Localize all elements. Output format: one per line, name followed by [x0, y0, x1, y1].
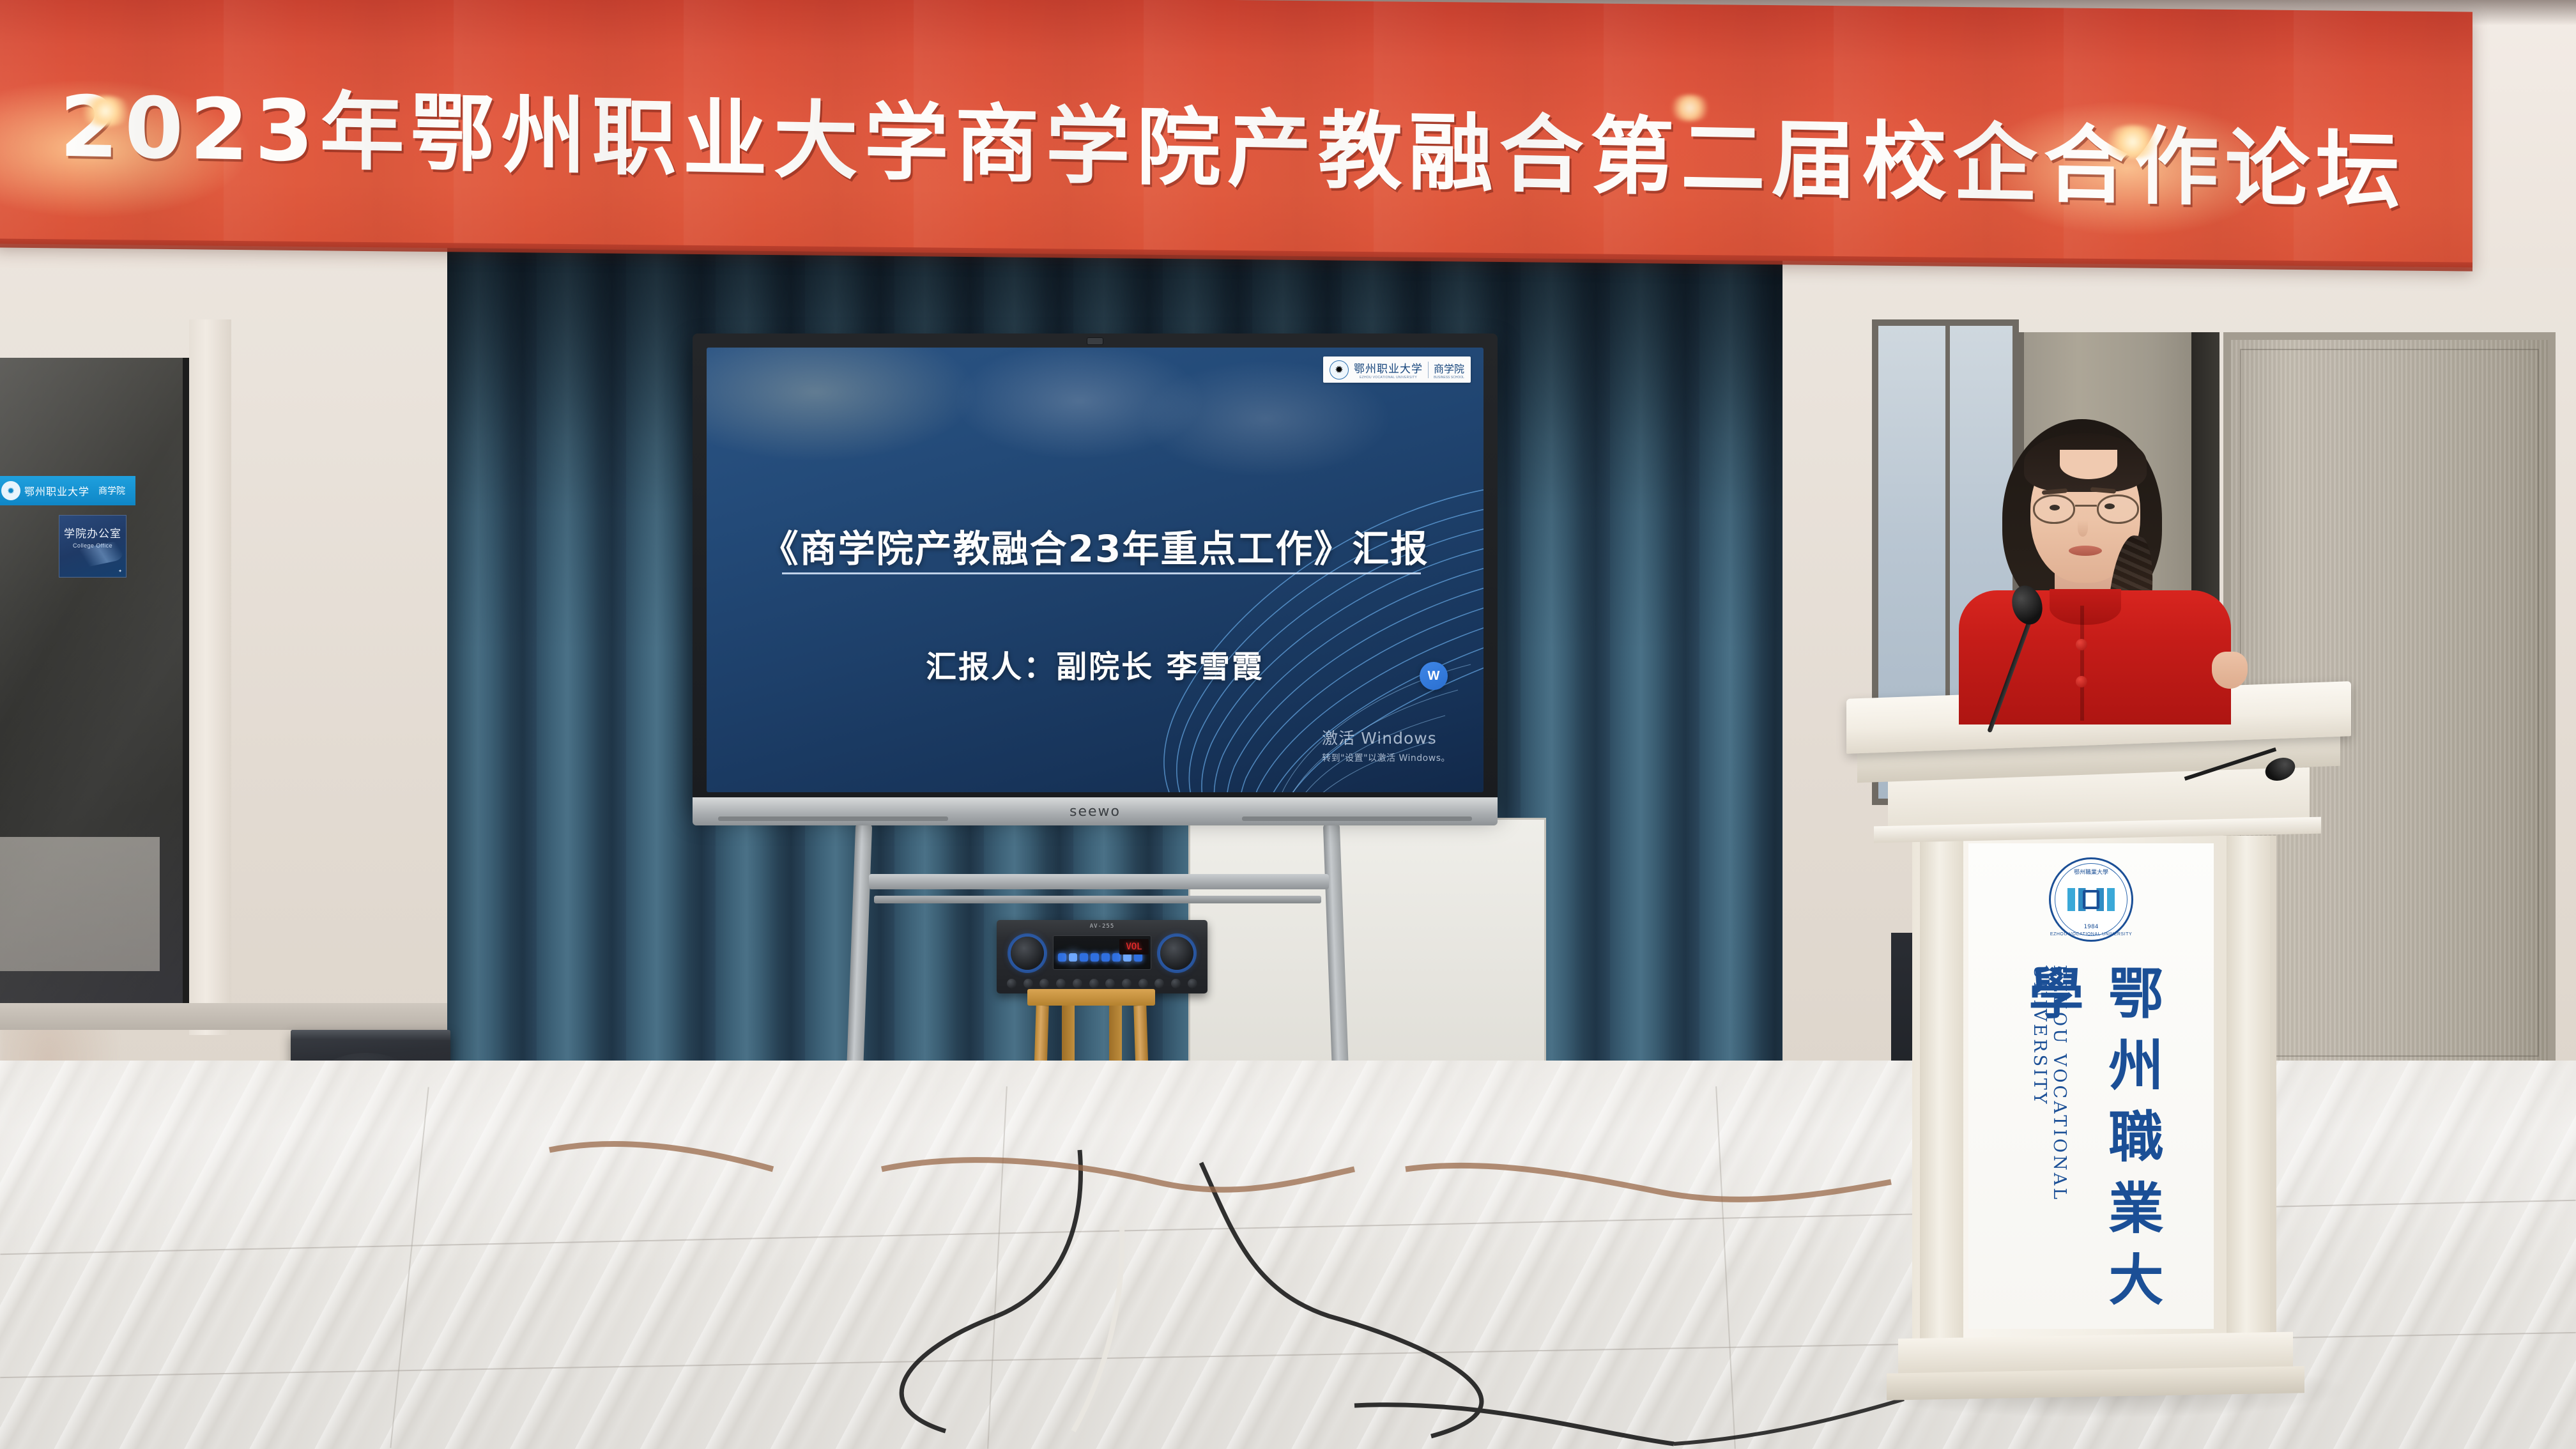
watermark-line-2: 转到"设置"以激活 Windows。 — [1322, 751, 1450, 764]
baseboard — [0, 1003, 498, 1030]
amplifier-readout: VOL — [1119, 939, 1149, 954]
emblem-arc-bottom-text: EZHOU VOCATIONAL UNIVERSITY — [2050, 932, 2132, 937]
podium-column-right — [2227, 836, 2270, 1340]
amplifier-model-label: AV-255 — [997, 923, 1207, 930]
emblem-inner-ring: 鄂州職業大學 1984 EZHOU VOCATIONAL UNIVERSITY — [2055, 863, 2127, 936]
slide-presenter: 汇报人：副院长 李雪霞 — [707, 641, 1483, 686]
windows-activation-watermark: 激活 Windows 转到"设置"以激活 Windows。 — [1322, 726, 1450, 764]
amplifier-control-row[interactable] — [1007, 979, 1197, 988]
office-door-sign: 学院办公室 College Office ✦ — [59, 515, 126, 578]
display-stand-crossbar — [869, 874, 1329, 889]
logo-divider — [1428, 362, 1429, 378]
nose — [2078, 520, 2088, 537]
university-crest-icon: ✹ — [1330, 360, 1349, 379]
slide-logo-university-en: EZHOU VOCATIONAL UNIVERSITY — [1354, 376, 1423, 379]
glasses-bridge — [2075, 505, 2097, 507]
panel-vent — [718, 816, 948, 821]
hand — [2212, 652, 2248, 689]
slide-logo-university-cn: 鄂州职业大学 — [1354, 363, 1423, 376]
podium-front-plate: 鄂州職業大學 1984 EZHOU VOCATIONAL UNIVERSITY … — [1968, 843, 2214, 1329]
slide-title: 《商学院产教融合23年重点工作》汇报 — [707, 519, 1483, 572]
slide-title-underline — [782, 572, 1421, 574]
slide-logo-college-en: BUSINESS SCHOOL — [1434, 376, 1464, 379]
event-banner: 2023年鄂州职业大学商学院产教融合第二届校企合作论坛 — [0, 0, 2472, 268]
stool-seat — [1027, 989, 1155, 1006]
collar — [2050, 589, 2121, 625]
amplifier-volume-knob-right[interactable] — [1160, 937, 1193, 970]
hair-fringe — [2024, 433, 2147, 492]
sign-emblem-icon: ✦ — [118, 569, 122, 574]
presentation-app-badge-icon[interactable]: W — [1420, 662, 1448, 690]
strip-university-label: 鄂州职业大学 — [24, 483, 89, 498]
shirt-button — [2076, 676, 2087, 687]
speaker-top — [291, 1030, 450, 1040]
speaking-podium: 鄂州職業大學 1984 EZHOU VOCATIONAL UNIVERSITY … — [1907, 690, 2290, 1399]
slide-logo-college-cn: 商学院 — [1434, 363, 1464, 375]
strip-college-label: 商学院 — [98, 484, 125, 497]
event-banner-text: 2023年鄂州职业大学商学院产教融合第二届校企合作论坛 — [0, 0, 2472, 279]
conference-photo-scene: 学院办公室 College Office ✦ ✹ 鄂州职业大学 商学院 2023… — [0, 0, 2576, 1449]
watermark-line-1: 激活 Windows — [1322, 726, 1450, 749]
office-sign-cn: 学院办公室 — [64, 525, 121, 540]
display-stand-crossbar-lower — [874, 896, 1321, 903]
mouth — [2069, 546, 2102, 556]
interactive-display-panel[interactable]: ✹ 鄂州职业大学 EZHOU VOCATIONAL UNIVERSITY 商学院… — [693, 333, 1498, 806]
reception-counter — [0, 837, 160, 971]
panel-vent — [1242, 816, 1472, 821]
podium-column-left — [1920, 836, 1963, 1340]
audio-amplifier[interactable]: AV-255 VOL — [997, 920, 1207, 993]
emblem-center-glyph-icon — [2083, 890, 2099, 909]
slide-corner-logo: ✹ 鄂州职业大学 EZHOU VOCATIONAL UNIVERSITY 商学院… — [1323, 356, 1471, 383]
presentation-screen[interactable]: ✹ 鄂州职业大学 EZHOU VOCATIONAL UNIVERSITY 商学院… — [707, 348, 1483, 792]
amplifier-volume-knob-left[interactable] — [1011, 937, 1044, 970]
wall-pillar — [189, 319, 231, 1035]
lens-right — [2097, 494, 2139, 524]
emblem-year: 1984 — [2084, 924, 2099, 930]
panel-camera-icon — [1087, 337, 1103, 345]
presenter-person — [1955, 414, 2236, 714]
display-brand-label: seewo — [1069, 804, 1121, 820]
podium-name-cn: 鄂州職業大學 — [2011, 965, 2171, 1329]
university-emblem: 鄂州職業大學 1984 EZHOU VOCATIONAL UNIVERSITY — [2049, 857, 2133, 942]
slide-logo-college-block: 商学院 BUSINESS SCHOOL — [1434, 360, 1464, 379]
slide-logo-university-block: 鄂州职业大学 EZHOU VOCATIONAL UNIVERSITY — [1354, 360, 1423, 379]
university-crest-icon: ✹ — [1, 481, 20, 500]
shirt-button — [2076, 639, 2087, 650]
lens-left — [2033, 494, 2075, 524]
college-blue-strip: ✹ 鄂州职业大学 商学院 — [0, 476, 135, 505]
button-placket — [2080, 606, 2084, 721]
emblem-arc-top-text: 鄂州職業大學 — [2074, 868, 2108, 876]
display-bottom-bezel: seewo — [693, 797, 1498, 825]
